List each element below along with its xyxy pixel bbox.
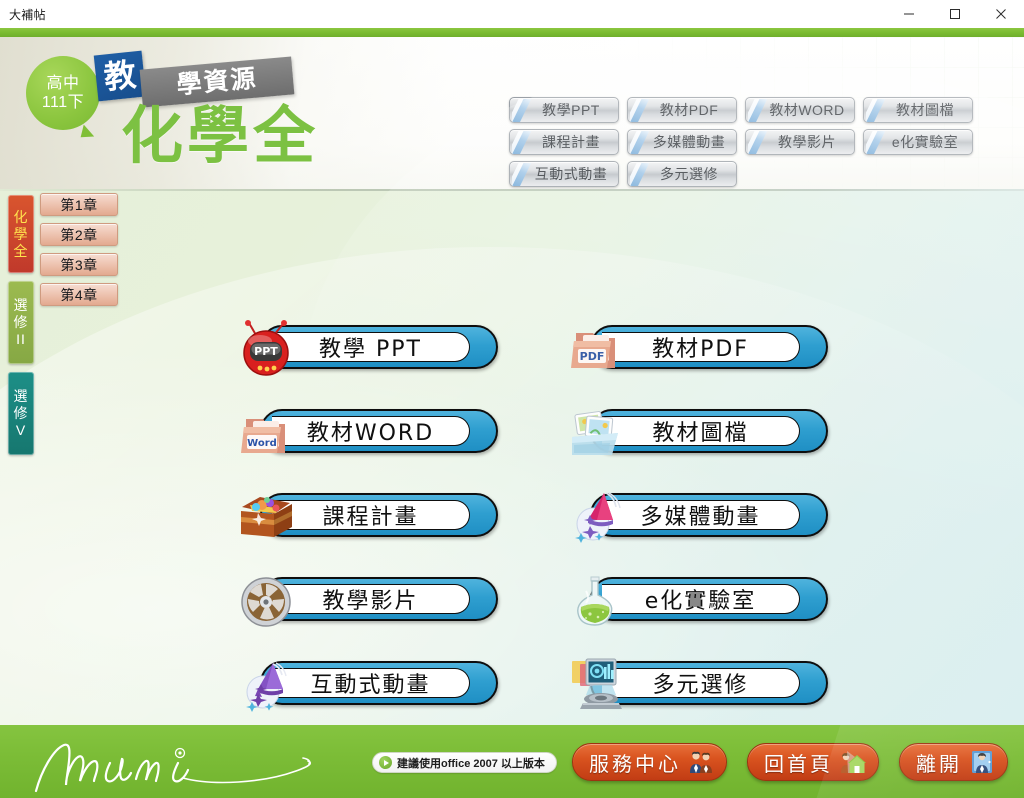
chapter-button-1[interactable]: 第1章 xyxy=(40,193,118,216)
svg-text:PPT: PPT xyxy=(254,345,278,358)
grade-badge-line2: 111下 xyxy=(42,93,84,112)
menu-label: 課程計畫 xyxy=(322,499,418,531)
menu-pill-inner: 教材PDF xyxy=(602,332,800,362)
sidebar-tab-char: V xyxy=(16,422,26,439)
service-center-button[interactable]: 服務中心 xyxy=(572,743,727,781)
main-menu-left-column: 教學 PPT xyxy=(236,319,498,739)
office-note-label: 建議使用office 2007 以上版本 xyxy=(397,755,545,771)
menu-label: 多媒體動畫 xyxy=(640,499,760,531)
subtitle-text: 學資源 xyxy=(176,66,259,98)
svg-text:Word: Word xyxy=(247,438,277,449)
office-version-note: 建議使用office 2007 以上版本 xyxy=(372,752,557,773)
exit-button[interactable]: 離開 xyxy=(899,743,1008,781)
menu-pill-inner: 教材WORD xyxy=(272,416,470,446)
folder-pdf-icon: PDF xyxy=(566,319,628,381)
menu-button-material-pdf[interactable]: 教材PDF PDF xyxy=(566,319,828,375)
image-files-icon xyxy=(566,403,628,465)
magic-hat-pink-icon xyxy=(566,487,628,549)
sidebar-tab-char: 修 xyxy=(14,405,29,422)
menu-button-electives[interactable]: 多元選修 xyxy=(566,655,828,711)
grade-badge: 高中 111下 xyxy=(26,56,100,130)
home-label: 回首頁 xyxy=(764,748,833,777)
house-icon xyxy=(840,749,866,775)
menu-pill-inner: 教學影片 xyxy=(272,584,470,614)
sidebar-tab-char: 選 xyxy=(14,388,29,405)
film-reel-icon xyxy=(236,571,298,633)
page-title: 化學全 xyxy=(121,103,319,168)
sidebar-tab-char: 全 xyxy=(14,243,29,260)
chapter-button-4[interactable]: 第4章 xyxy=(40,283,118,306)
sidebar-tab-elective-5[interactable]: 選 修 V xyxy=(8,372,34,455)
grade-badge-line1: 高中 xyxy=(46,74,79,93)
sidebar-tab-char: 學 xyxy=(14,226,29,243)
minimize-button[interactable] xyxy=(886,0,932,28)
sidebar: 化 學 全 選 修 II 選 修 V xyxy=(8,195,34,463)
menu-button-material-images[interactable]: 教材圖檔 xyxy=(566,403,828,459)
footer-band: 建議使用office 2007 以上版本 服務中心 xyxy=(0,725,1024,798)
chapter-button-3[interactable]: 第3章 xyxy=(40,253,118,276)
menu-button-course-plan[interactable]: 課程計畫 xyxy=(236,487,498,543)
menu-button-interactive-animation[interactable]: 互動式動畫 xyxy=(236,655,498,711)
service-center-label: 服務中心 xyxy=(589,748,681,777)
sidebar-tab-char: 化 xyxy=(14,209,29,226)
window-controls xyxy=(886,0,1024,28)
svg-text:PDF: PDF xyxy=(580,350,605,363)
menu-button-teaching-video[interactable]: 教學影片 xyxy=(236,571,498,627)
chapter-button-2[interactable]: 第2章 xyxy=(40,223,118,246)
magic-hat-purple-icon xyxy=(236,655,298,717)
play-icon xyxy=(379,756,392,769)
flask-icon xyxy=(566,571,628,633)
main-menu-right-column: 教材PDF PDF xyxy=(566,319,828,739)
maximize-icon xyxy=(949,8,961,20)
sidebar-tab-chemistry-full[interactable]: 化 學 全 xyxy=(8,195,34,273)
tv-ppt-icon: PPT xyxy=(236,319,298,381)
kanji-box: 教 xyxy=(94,51,147,102)
menu-label: 教材PDF xyxy=(652,331,749,363)
maximize-button[interactable] xyxy=(932,0,978,28)
menu-label: 教材圖檔 xyxy=(652,415,748,447)
kanji-glyph: 教 xyxy=(102,58,137,93)
menu-label: 教學 PPT xyxy=(319,331,422,363)
sidebar-tab-char: 選 xyxy=(14,297,29,314)
menu-pill-inner: 互動式動畫 xyxy=(272,668,470,698)
menu-label: 教學影片 xyxy=(322,583,418,615)
chapter-list: 第1章 第2章 第3章 第4章 xyxy=(40,193,118,313)
close-icon xyxy=(995,8,1007,20)
menu-button-multimedia-animation[interactable]: 多媒體動畫 xyxy=(566,487,828,543)
footer-button-group: 服務中心 回首 xyxy=(572,743,1008,781)
close-button[interactable] xyxy=(978,0,1024,28)
menu-button-e-lab[interactable]: e化實驗室 xyxy=(566,571,828,627)
titlebar-accent-bar xyxy=(0,28,1024,37)
sidebar-tab-elective-2[interactable]: 選 修 II xyxy=(8,281,34,364)
sidebar-tab-char: II xyxy=(16,331,26,348)
app-body: 高中 111下 教 學資源 化學全 教學PPT 教材PDF xyxy=(0,37,1024,798)
exit-label: 離開 xyxy=(916,748,962,777)
menu-button-material-word[interactable]: 教材WORD Word xyxy=(236,403,498,459)
window-title: 大補帖 xyxy=(9,6,46,23)
folder-word-icon: Word xyxy=(236,403,298,465)
menu-pill-inner: e化實驗室 xyxy=(602,584,800,614)
menu-label: 多元選修 xyxy=(652,667,748,699)
exit-door-icon xyxy=(969,749,995,775)
menu-pill-inner: 教材圖檔 xyxy=(602,416,800,446)
menu-button-teaching-ppt[interactable]: 教學 PPT xyxy=(236,319,498,375)
home-button[interactable]: 回首頁 xyxy=(747,743,879,781)
brand-logo-group: 高中 111下 教 學資源 化學全 xyxy=(18,50,348,180)
treasure-chest-icon xyxy=(236,487,298,549)
menu-label: 教材WORD xyxy=(307,415,434,447)
menu-pill-inner: 課程計畫 xyxy=(272,500,470,530)
menu-pill-inner: 教學 PPT xyxy=(272,332,470,362)
menu-label: 互動式動畫 xyxy=(310,667,430,699)
people-icon xyxy=(688,749,714,775)
menu-label: e化實驗室 xyxy=(645,583,757,615)
sidebar-tab-char: 修 xyxy=(14,314,29,331)
minimize-icon xyxy=(903,8,915,20)
content-area: 化 學 全 選 修 II 選 修 V 第1章 第2章 第3章 第4章 xyxy=(0,189,1024,725)
monitor-chart-icon xyxy=(566,655,628,717)
menu-pill-inner: 多元選修 xyxy=(602,668,800,698)
window-titlebar: 大補帖 xyxy=(0,0,1024,28)
brand-mark-nani xyxy=(28,733,328,795)
menu-pill-inner: 多媒體動畫 xyxy=(602,500,800,530)
